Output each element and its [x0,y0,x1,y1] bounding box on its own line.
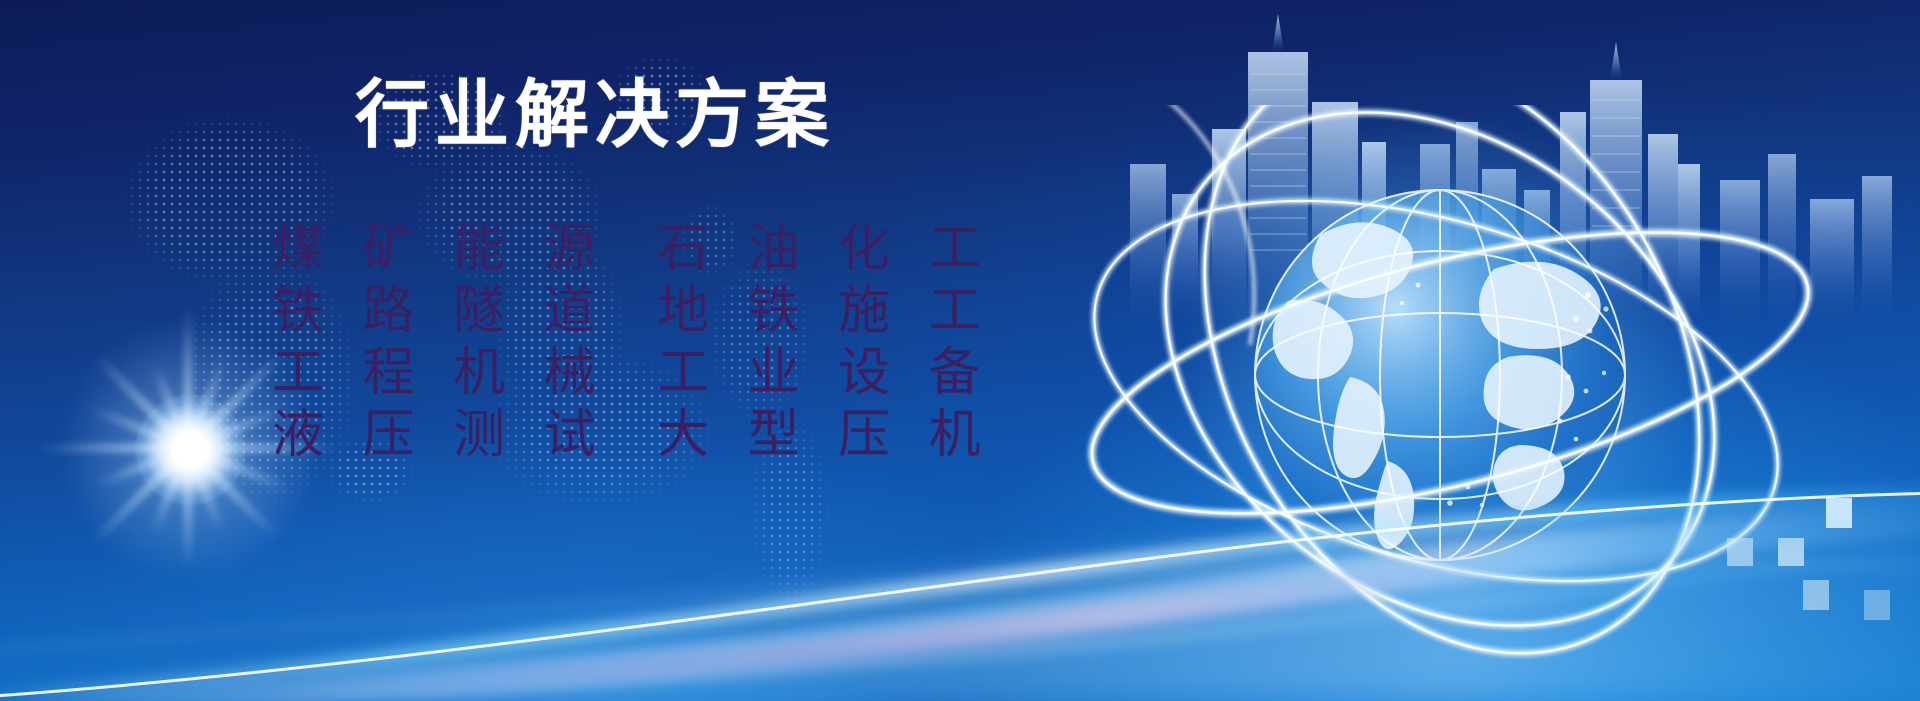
solution-item-coal-energy[interactable]: 煤 矿 能 源 [272,218,657,280]
solution-item-industrial-equipment[interactable]: 工 业 设 备 [657,342,992,404]
solution-item-large-press[interactable]: 大 型 压 机 [657,404,992,466]
solution-item-construction-machinery[interactable]: 工 程 机 械 [272,342,657,404]
solution-item-railway-tunnel[interactable]: 铁 路 隧 道 [272,280,657,342]
text-content: 行业解决方案 煤 矿 能 源 石 油 化 工 铁 路 隧 道 地 铁 施 工 工… [0,0,1000,701]
solution-item-subway-construction[interactable]: 地 铁 施 工 [657,280,992,342]
page-title: 行业解决方案 [355,78,835,152]
industry-solutions-banner: 行业解决方案 煤 矿 能 源 石 油 化 工 铁 路 隧 道 地 铁 施 工 工… [0,0,1920,701]
solutions-grid: 煤 矿 能 源 石 油 化 工 铁 路 隧 道 地 铁 施 工 工 程 机 械 … [272,218,952,466]
solution-item-hydraulic-testing[interactable]: 液 压 测 试 [272,404,657,466]
solution-item-petrochemical[interactable]: 石 油 化 工 [657,218,992,280]
